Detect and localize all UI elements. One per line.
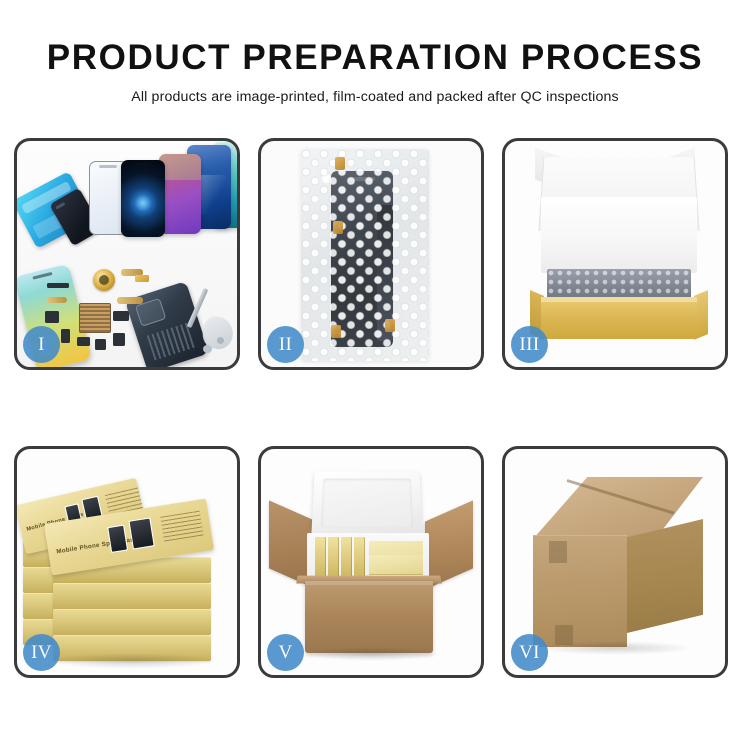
header: PRODUCT PREPARATION PROCESS All products… [0,0,750,126]
box-product-photo [107,525,128,553]
process-step-panel-4: Mobile Phone Spare Parts Mobile Phone Sp… [14,446,240,678]
step-badge-5: V [267,634,304,671]
inner-box-edge [354,537,365,577]
bubble-texture-icon [301,149,429,361]
component-icon [95,339,106,350]
phone-back-housing-icon [125,281,209,367]
component-icon [61,329,70,343]
step-badge-2: II [267,326,304,363]
box-product-photo [128,517,154,549]
component-icon [77,337,90,346]
inner-box-edge [341,537,352,577]
page-title: PRODUCT PREPARATION PROCESS [47,38,703,78]
carton-front-panel-icon [305,581,433,653]
box-spec-lines [160,511,204,543]
step-badge-3: III [511,326,548,363]
bubble-bag [301,149,429,361]
speaker-module-icon [93,269,115,291]
drop-shadow [47,653,217,669]
tape-icon [385,319,395,332]
box-slab [53,609,211,635]
process-step-panel-5: V [258,446,484,678]
flex-cable-icon [47,297,67,303]
process-step-panel-6: VI [502,446,728,678]
phone-black-icon [121,160,165,237]
component-icon [45,311,59,323]
drop-shadow [535,641,695,655]
chip-array-icon [79,303,111,333]
component-icon [113,333,125,346]
drop-shadow [301,647,441,661]
step-badge-1: I [23,326,60,363]
process-step-grid: I II [14,138,736,678]
box-front-panel-icon [541,301,697,339]
screw-icon [217,337,224,344]
foam-box-lid-icon [311,471,422,536]
inner-box-edge [328,537,339,577]
component-icon [47,283,69,288]
box-slab [53,583,211,609]
flex-cable-icon [117,297,143,304]
screw-icon [203,345,212,353]
tape-icon [331,325,341,338]
component-icon [135,275,149,282]
component-icon [113,311,129,321]
bag-body [301,149,429,361]
process-step-panel-1: I [14,138,240,370]
process-step-panel-2: II [258,138,484,370]
inner-box-stack [369,555,423,575]
product-preparation-infographic: PRODUCT PREPARATION PROCESS All products… [0,0,750,750]
carton-right-face-icon [627,519,703,633]
step-badge-4: IV [23,634,60,671]
phone-purple-icon [159,154,201,234]
tape-icon [333,221,343,234]
tape-icon [335,157,345,170]
inner-box-edge [315,537,326,577]
page-subtitle: All products are image-printed, film-coa… [131,89,619,105]
carton-left-face-icon [533,535,627,647]
step-badge-6: VI [511,634,548,671]
box-inner-wall-icon [541,197,697,273]
carton-tab-icon [549,541,567,563]
process-step-panel-3: III [502,138,728,370]
